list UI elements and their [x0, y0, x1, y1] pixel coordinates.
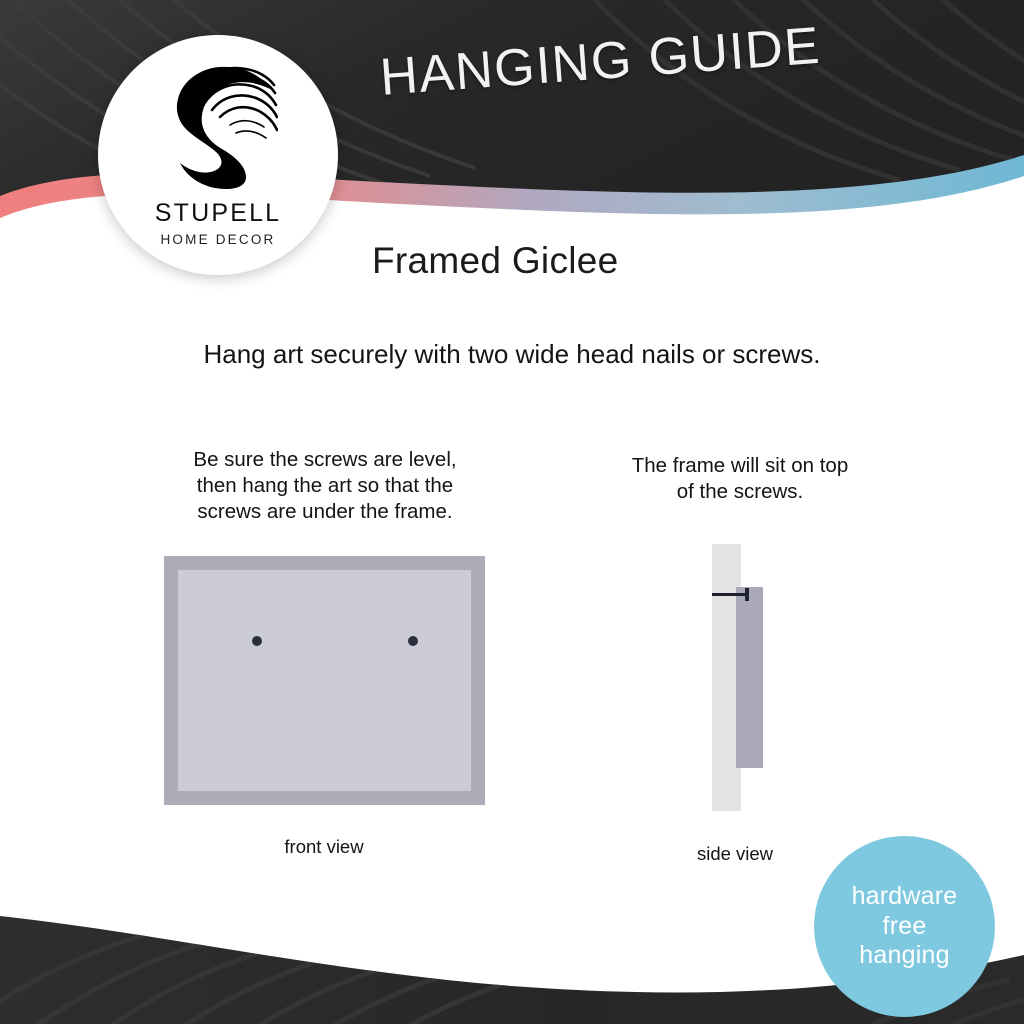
front-view-label: front view — [284, 836, 363, 858]
framed-art-side-view-diagram — [700, 544, 780, 814]
screw-hole-left-icon — [252, 636, 262, 646]
badge-line-3: hanging — [859, 941, 949, 971]
caption-line: Be sure the screws are level, — [160, 447, 490, 473]
framed-art-front-view-diagram — [164, 556, 485, 805]
nail-head-icon — [745, 588, 749, 601]
brand-logo-badge: STUPELL HOME DECOR — [98, 35, 338, 275]
nail-shaft-icon — [712, 593, 748, 596]
caption-line: The frame will sit on top — [590, 453, 890, 479]
side-view-caption: The frame will sit on top of the screws. — [590, 453, 890, 505]
badge-line-1: hardware — [852, 882, 958, 912]
page-title: HANGING GUIDE — [378, 16, 823, 108]
frame-inner-art — [178, 570, 471, 791]
hanging-guide-page: STUPELL HOME DECOR HANGING GUIDE Framed … — [0, 0, 1024, 1024]
screw-hole-right-icon — [408, 636, 418, 646]
lead-instruction: Hang art securely with two wide head nai… — [203, 339, 820, 370]
caption-line: then hang the art so that the — [160, 473, 490, 499]
caption-line: screws are under the frame. — [160, 499, 490, 525]
frame-strip — [736, 587, 763, 768]
product-type: Framed Giclee — [372, 240, 619, 282]
brand-name: STUPELL — [155, 199, 282, 228]
stupell-swoosh-logo-icon — [158, 57, 278, 189]
badge-line-2: free — [883, 912, 927, 942]
caption-line: of the screws. — [590, 479, 890, 505]
hardware-free-hanging-badge: hardware free hanging — [814, 836, 995, 1017]
side-view-label: side view — [697, 843, 773, 865]
front-view-caption: Be sure the screws are level, then hang … — [160, 447, 490, 525]
brand-tagline: HOME DECOR — [160, 232, 275, 247]
